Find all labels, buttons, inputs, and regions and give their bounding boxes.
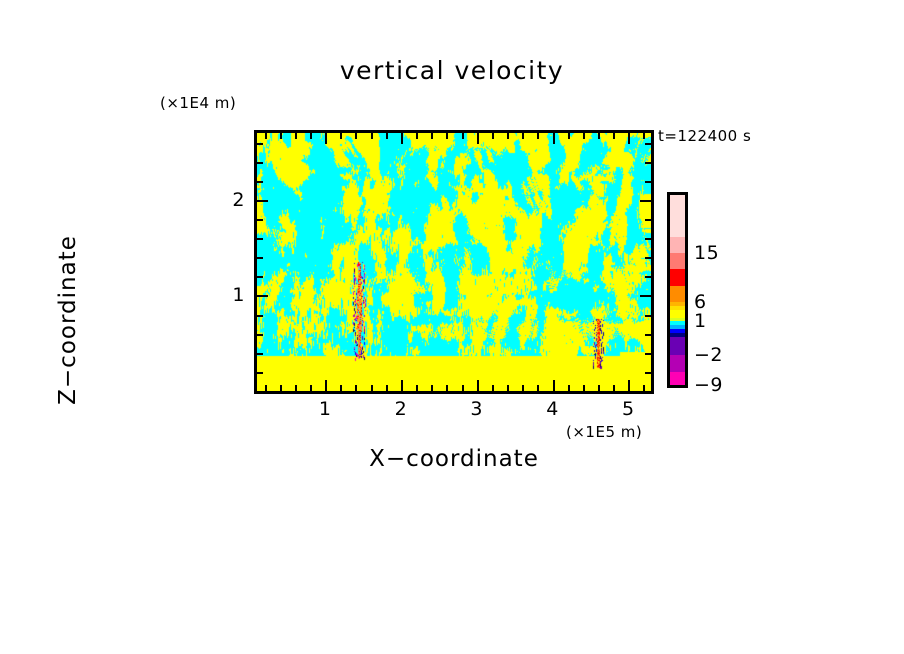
x-minor-tick (371, 385, 373, 391)
x-minor-tick (416, 385, 418, 391)
x-minor-tick (492, 385, 494, 391)
colorbar-band (670, 195, 685, 237)
x-minor-tick (340, 133, 342, 139)
colorbar-tick-label: 15 (694, 242, 719, 264)
y-minor-tick (645, 181, 651, 183)
x-major-tick (401, 380, 403, 391)
colorbar-tick-label: 1 (694, 310, 707, 332)
x-minor-tick (492, 133, 494, 139)
x-minor-tick (265, 133, 267, 139)
y-minor-tick (257, 219, 263, 221)
x-minor-tick (386, 133, 388, 139)
y-minor-tick (645, 391, 651, 393)
x-minor-tick (583, 133, 585, 139)
x-tick-label: 2 (395, 398, 408, 420)
x-minor-tick (340, 385, 342, 391)
colorbar-band (670, 310, 685, 318)
colorbar-tick-label: −2 (694, 344, 723, 366)
colorbar[interactable] (667, 192, 688, 388)
x-minor-tick (295, 133, 297, 139)
y-axis-title: Z−coordinate (55, 120, 81, 520)
x-major-tick (628, 133, 630, 144)
x-minor-tick (265, 385, 267, 391)
x-tick-label: 1 (319, 398, 332, 420)
x-minor-tick (386, 385, 388, 391)
x-minor-tick (416, 133, 418, 139)
y-minor-tick (645, 162, 651, 164)
colorbar-band (670, 253, 685, 269)
y-minor-tick (645, 353, 651, 355)
x-minor-tick (583, 385, 585, 391)
x-minor-tick (462, 133, 464, 139)
x-tick-label: 5 (622, 398, 635, 420)
colorbar-tick-label: −9 (694, 374, 723, 396)
y-minor-tick (257, 334, 263, 336)
x-minor-tick (568, 385, 570, 391)
time-annotation: t=122400 s (658, 127, 751, 145)
x-major-tick (325, 380, 327, 391)
x-axis-title: X−coordinate (254, 446, 654, 472)
x-major-tick (477, 380, 479, 391)
x-major-tick (477, 133, 479, 144)
x-minor-tick (310, 133, 312, 139)
x-axis-unit-label: (×1E5 m) (566, 423, 642, 441)
y-minor-tick (257, 143, 263, 145)
x-minor-tick (507, 385, 509, 391)
y-minor-tick (645, 372, 651, 374)
colorbar-band (670, 337, 685, 355)
colorbar-band (670, 372, 685, 385)
x-tick-label: 3 (470, 398, 483, 420)
x-minor-tick (462, 385, 464, 391)
y-minor-tick (257, 391, 263, 393)
x-minor-tick (355, 385, 357, 391)
y-minor-tick (257, 257, 263, 259)
y-major-tick (640, 200, 651, 202)
x-minor-tick (446, 385, 448, 391)
x-major-tick (325, 133, 327, 144)
x-major-tick (401, 133, 403, 144)
x-minor-tick (371, 133, 373, 139)
colorbar-band (670, 355, 685, 372)
colorbar-band (670, 286, 685, 301)
y-minor-tick (645, 257, 651, 259)
y-tick-label: 2 (231, 189, 245, 211)
x-major-tick (553, 380, 555, 391)
x-minor-tick (446, 133, 448, 139)
x-minor-tick (280, 385, 282, 391)
x-minor-tick (522, 133, 524, 139)
x-major-tick (628, 380, 630, 391)
x-minor-tick (295, 385, 297, 391)
y-minor-tick (257, 162, 263, 164)
x-minor-tick (355, 133, 357, 139)
x-minor-tick (613, 385, 615, 391)
x-major-tick (553, 133, 555, 144)
y-minor-tick (645, 334, 651, 336)
x-minor-tick (537, 385, 539, 391)
x-minor-tick (310, 385, 312, 391)
colorbar-bands (670, 195, 685, 385)
y-axis-unit-label: (×1E4 m) (160, 94, 236, 112)
x-minor-tick (522, 385, 524, 391)
y-minor-tick (645, 238, 651, 240)
x-minor-tick (613, 133, 615, 139)
y-minor-tick (257, 181, 263, 183)
x-minor-tick (431, 133, 433, 139)
y-minor-tick (257, 372, 263, 374)
x-minor-tick (280, 133, 282, 139)
y-tick-label: 1 (231, 284, 245, 306)
velocity-field-heatmap (257, 133, 651, 391)
colorbar-band (670, 269, 685, 286)
y-minor-tick (257, 353, 263, 355)
x-minor-tick (507, 133, 509, 139)
y-major-tick (257, 295, 268, 297)
x-minor-tick (643, 133, 645, 139)
y-minor-tick (645, 315, 651, 317)
y-minor-tick (257, 315, 263, 317)
plot-area[interactable] (254, 130, 654, 394)
colorbar-band (670, 237, 685, 253)
y-major-tick (257, 200, 268, 202)
x-minor-tick (537, 133, 539, 139)
x-tick-label: 4 (546, 398, 559, 420)
y-minor-tick (257, 238, 263, 240)
x-minor-tick (598, 385, 600, 391)
page-title: vertical velocity (0, 56, 904, 85)
y-minor-tick (257, 276, 263, 278)
y-minor-tick (645, 276, 651, 278)
y-major-tick (640, 295, 651, 297)
x-minor-tick (598, 133, 600, 139)
y-minor-tick (645, 219, 651, 221)
y-minor-tick (645, 143, 651, 145)
x-minor-tick (431, 385, 433, 391)
x-minor-tick (568, 133, 570, 139)
